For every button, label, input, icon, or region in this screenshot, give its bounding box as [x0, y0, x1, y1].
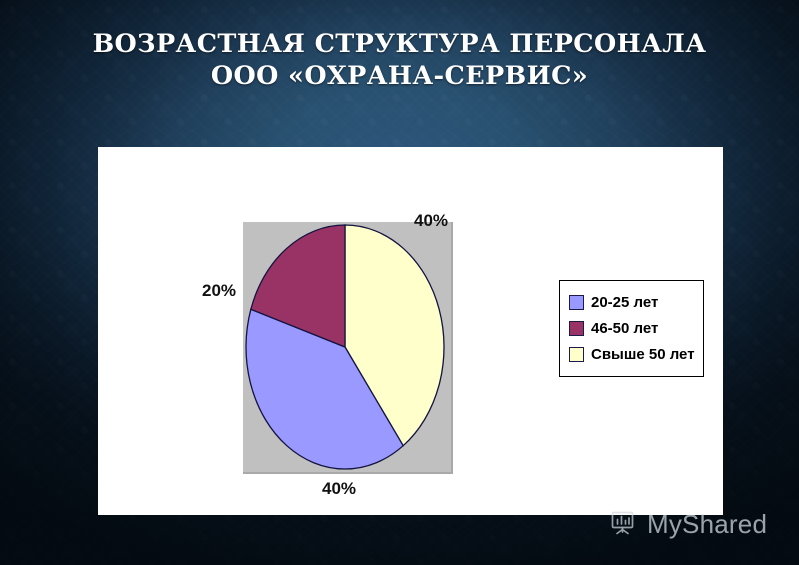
- legend-swatch-icon: [569, 321, 584, 336]
- data-label-20-25: 40%: [322, 479, 356, 499]
- pie-chart-plot-area: [243, 222, 453, 474]
- legend-item-label: 20-25 лет: [591, 294, 658, 311]
- legend-item[interactable]: Свыше 50 лет: [569, 341, 694, 367]
- myshared-watermark: MyShared: [608, 507, 767, 542]
- chart-legend: 20-25 лет46-50 летСвыше 50 лет: [559, 280, 704, 377]
- legend-swatch-icon: [569, 347, 584, 362]
- legend-item-label: Свыше 50 лет: [591, 346, 695, 363]
- legend-item[interactable]: 20-25 лет: [569, 289, 694, 315]
- legend-item[interactable]: 46-50 лет: [569, 315, 694, 341]
- legend-swatch-icon: [569, 295, 584, 310]
- watermark-text: MyShared: [647, 509, 767, 540]
- slide-title: ВОЗРАСТНАЯ СТРУКТУРА ПЕРСОНАЛА ООО «ОХРА…: [0, 28, 799, 92]
- presentation-slide: ВОЗРАСТНАЯ СТРУКТУРА ПЕРСОНАЛА ООО «ОХРА…: [0, 0, 799, 565]
- chart-panel: 40% 20% 40% 20-25 лет46-50 летСвыше 50 л…: [98, 147, 723, 515]
- data-label-svyshe-50: 40%: [414, 211, 448, 231]
- data-label-46-50: 20%: [202, 281, 236, 301]
- legend-item-label: 46-50 лет: [591, 320, 658, 337]
- presentation-chart-icon: [608, 507, 638, 542]
- pie-chart: [243, 222, 451, 472]
